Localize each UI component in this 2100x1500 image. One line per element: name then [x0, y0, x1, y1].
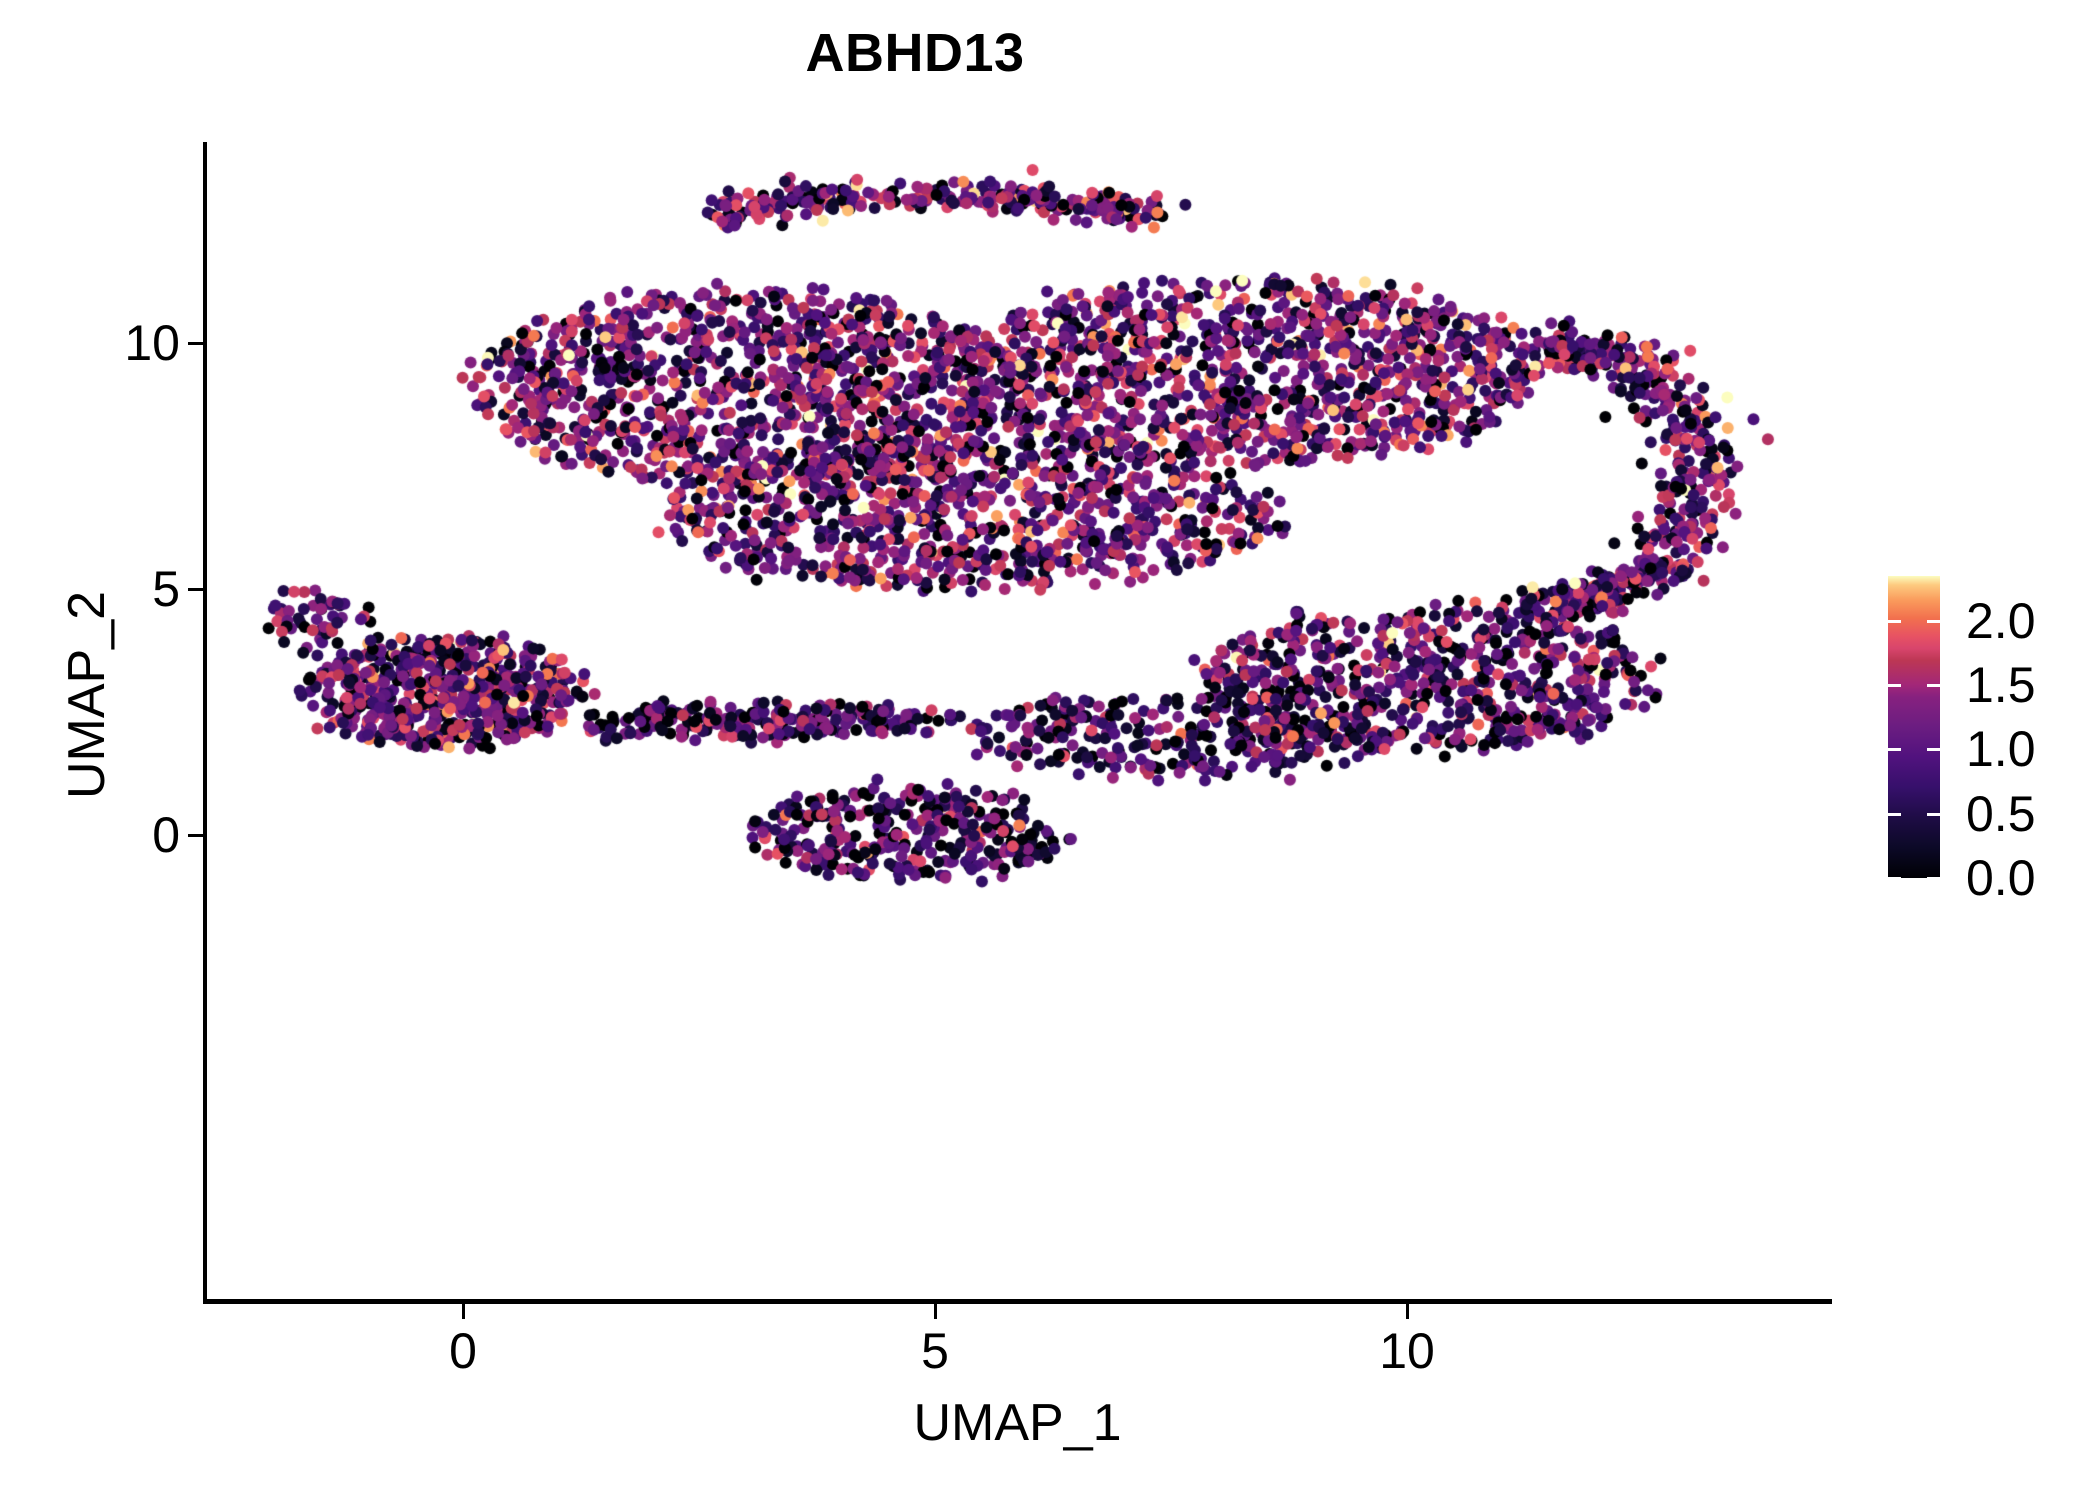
colorbar-tick-mark	[1927, 877, 1940, 880]
x-tick-label: 0	[383, 1322, 543, 1380]
y-tick-mark	[188, 342, 203, 345]
page-title: ABHD13	[0, 22, 1830, 84]
x-tick-label: 5	[855, 1322, 1015, 1380]
x-tick-mark	[462, 1304, 465, 1319]
y-tick-mark	[188, 588, 203, 591]
colorbar-tick-mark	[1927, 620, 1940, 623]
colorbar-tick-mark	[1888, 748, 1901, 751]
scatter-points-layer	[205, 142, 1830, 1301]
x-tick-mark	[934, 1304, 937, 1319]
y-axis-line	[203, 142, 207, 1303]
colorbar-tick-label: 1.0	[1966, 720, 2036, 778]
colorbar-tick-label: 0.0	[1966, 849, 2036, 907]
x-axis-title: UMAP_1	[203, 1392, 1832, 1454]
x-tick-label: 10	[1327, 1322, 1487, 1380]
x-axis-line	[203, 1299, 1832, 1304]
colorbar-tick-mark	[1927, 684, 1940, 687]
feature-plot-figure: ABHD13 0510 1050 UMAP_1 UMAP_2 2.01.51.0…	[0, 0, 2100, 1500]
scatter-plot-panel	[205, 142, 1830, 1301]
colorbar-tick-mark	[1888, 813, 1901, 816]
colorbar-tick-mark	[1927, 748, 1940, 751]
colorbar-tick-mark	[1927, 813, 1940, 816]
y-axis-title: UMAP_2	[56, 115, 118, 1275]
colorbar-tick-label: 0.5	[1966, 785, 2036, 843]
colorbar-tick-mark	[1888, 620, 1901, 623]
colorbar-tick-mark	[1888, 877, 1901, 880]
colorbar-tick-label: 2.0	[1966, 592, 2036, 650]
x-tick-mark	[1406, 1304, 1409, 1319]
colorbar-tick-mark	[1888, 684, 1901, 687]
y-tick-mark	[188, 834, 203, 837]
colorbar-tick-label: 1.5	[1966, 656, 2036, 714]
